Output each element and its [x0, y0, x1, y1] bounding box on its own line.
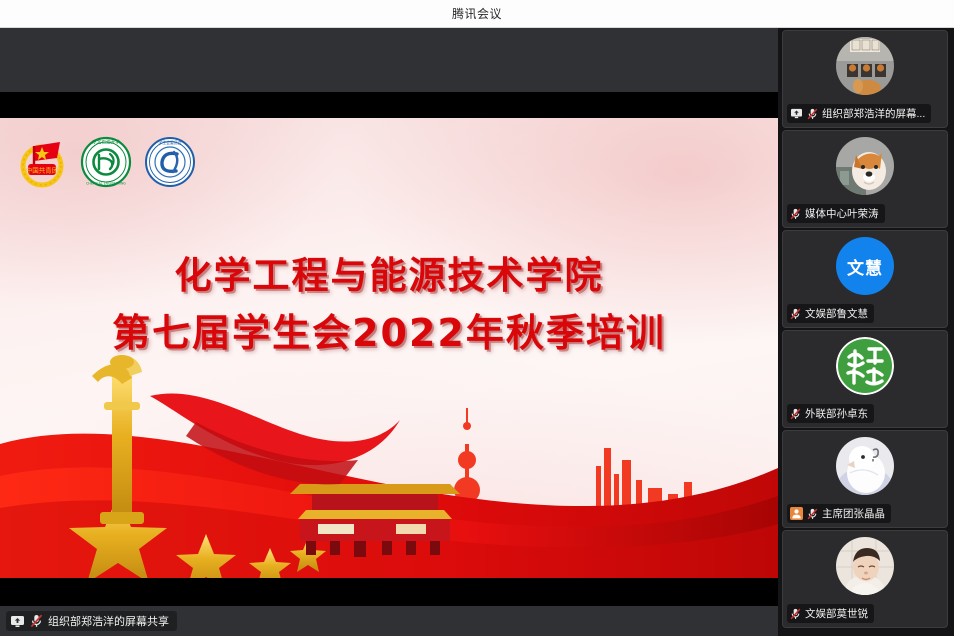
svg-text:学生会委员会: 学生会委员会: [158, 140, 181, 145]
screen-share-icon: [790, 108, 803, 119]
window-title: 腾讯会议: [452, 5, 502, 22]
tencent-meeting-window: 腾讯会议: [0, 0, 954, 636]
participant-tile[interactable]: 组织部郑浩洋的屏幕...: [782, 30, 948, 128]
mic-muted-icon: [30, 614, 43, 628]
letterbox-top: [0, 92, 778, 118]
slide-title-line1: 化学工程与能源技术学院: [0, 248, 778, 304]
svg-text:中国共青团: 中国共青团: [26, 166, 59, 175]
participant-rail[interactable]: 组织部郑浩洋的屏幕...: [778, 28, 954, 636]
participant-tile[interactable]: 文娱部莫世锐: [782, 530, 948, 628]
letterbox-bottom: [0, 578, 778, 606]
mic-muted-icon: [790, 308, 801, 320]
slide-title: 化学工程与能源技术学院 第七届学生会2022年秋季培训: [0, 248, 778, 362]
tile-label: 媒体中心叶荣涛: [787, 204, 885, 223]
corgi-dog-photo-avatar: [836, 137, 894, 195]
shiba-inu-photo-avatar: [836, 37, 894, 95]
communist-youth-league-emblem: 中国共青团: [16, 136, 68, 188]
svg-text:CHEMICAL ENGINEERING: CHEMICAL ENGINEERING: [86, 182, 126, 186]
avatar-initials: 文慧: [836, 237, 894, 295]
tile-label: 文娱部莫世锐: [787, 604, 874, 623]
participant-tile[interactable]: 外联部孙卓东: [782, 330, 948, 428]
window-titlebar: 腾讯会议: [0, 0, 954, 28]
slide-logos: 中国共青团 东北石油大学 CHEMICAL ENGINEERING: [16, 136, 196, 188]
participant-name: 文娱部鲁文慧: [805, 306, 868, 321]
participant-tile[interactable]: 文慧 文娱部鲁文慧: [782, 230, 948, 328]
tile-label: 主席团张晶晶: [787, 504, 891, 523]
mic-muted-icon: [790, 608, 801, 620]
slide-title-line2: 第七届学生会2022年秋季培训: [0, 304, 778, 362]
participant-name: 组织部郑浩洋的屏幕...: [822, 106, 925, 121]
tile-label: 组织部郑浩洋的屏幕...: [787, 104, 931, 123]
mic-muted-icon: [790, 408, 801, 420]
tile-label: 外联部孙卓东: [787, 404, 874, 423]
university-green-seal: 东北石油大学 CHEMICAL ENGINEERING: [80, 136, 132, 188]
tile-label: 文娱部鲁文慧: [787, 304, 874, 323]
shared-screen-stage[interactable]: 中国共青团 东北石油大学 CHEMICAL ENGINEERING: [0, 28, 778, 636]
green-calligraphy-avatar: [836, 337, 894, 395]
mic-muted-icon: [807, 508, 818, 520]
presenter-badge: 组织部郑浩洋的屏幕共享: [6, 611, 177, 631]
participant-name: 文娱部莫世锐: [805, 606, 868, 621]
host-badge-icon: [790, 507, 803, 520]
participant-name: 媒体中心叶荣涛: [805, 206, 879, 221]
presentation-slide: 中国共青团 东北石油大学 CHEMICAL ENGINEERING: [0, 118, 778, 578]
participant-name: 外联部孙卓东: [805, 406, 868, 421]
white-bird-photo-avatar: [836, 437, 894, 495]
screen-share-icon: [10, 615, 25, 628]
mic-muted-icon: [807, 108, 818, 120]
child-photo-avatar: [836, 537, 894, 595]
participant-name: 主席团张晶晶: [822, 506, 885, 521]
svg-text:东北石油大学: 东北石油大学: [92, 139, 120, 146]
participant-tile[interactable]: 媒体中心叶荣涛: [782, 130, 948, 228]
mic-muted-icon: [790, 208, 801, 220]
college-blue-seal: 学生会委员会: [144, 136, 196, 188]
presenter-name: 组织部郑浩洋的屏幕共享: [48, 613, 169, 629]
blue-initials-avatar: 文慧: [836, 237, 894, 295]
red-wave-flag-graphic: [0, 348, 778, 578]
participant-tile[interactable]: 主席团张晶晶: [782, 430, 948, 528]
